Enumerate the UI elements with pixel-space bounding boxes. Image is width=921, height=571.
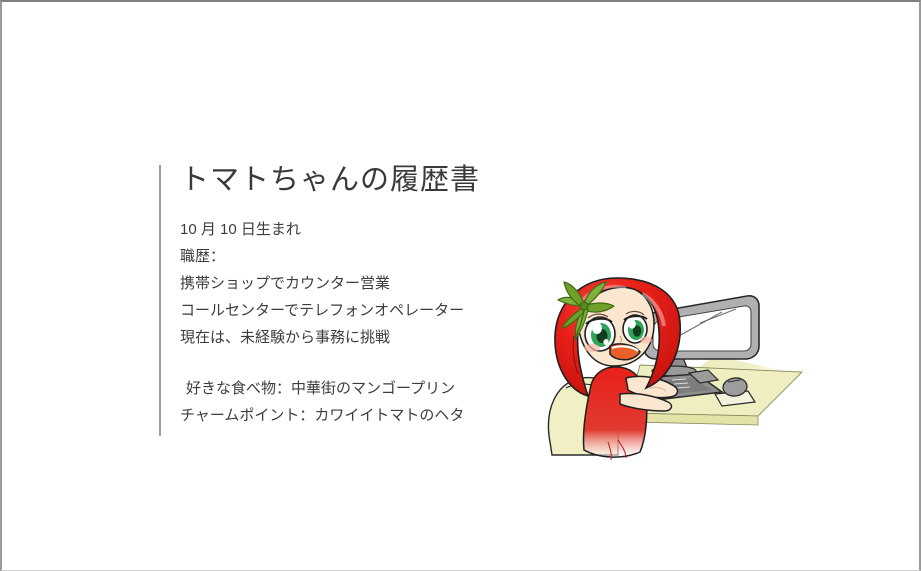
resume-line-charm-point: チャームポイント：カワイイトマトのヘタ: [180, 402, 520, 429]
resume-line-career-1: 携帯ショップでカウンター営業: [180, 270, 520, 297]
resume-line-career-3: 現在は、未経験から事務に挑戦: [180, 324, 520, 351]
resume-line-favorite-food: 好きな食べ物：中華街のマンゴープリン: [180, 375, 520, 402]
page-title: トマトちゃんの履歴書: [180, 162, 520, 198]
resume-line-birthday: 10 月 10 日生まれ: [180, 216, 520, 243]
resume-page: トマトちゃんの履歴書 10 月 10 日生まれ 職歴： 携帯ショップでカウンター…: [0, 0, 921, 571]
resume-line-career-heading: 職歴：: [180, 243, 520, 270]
resume-text-block: トマトちゃんの履歴書 10 月 10 日生まれ 職歴： 携帯ショップでカウンター…: [180, 162, 520, 429]
text-spacer: [180, 351, 520, 375]
tomato-girl-illustration: [522, 270, 822, 470]
accent-vertical-rule: [159, 165, 161, 436]
resume-line-career-2: コールセンターでテレフォンオペレーター: [180, 297, 520, 324]
